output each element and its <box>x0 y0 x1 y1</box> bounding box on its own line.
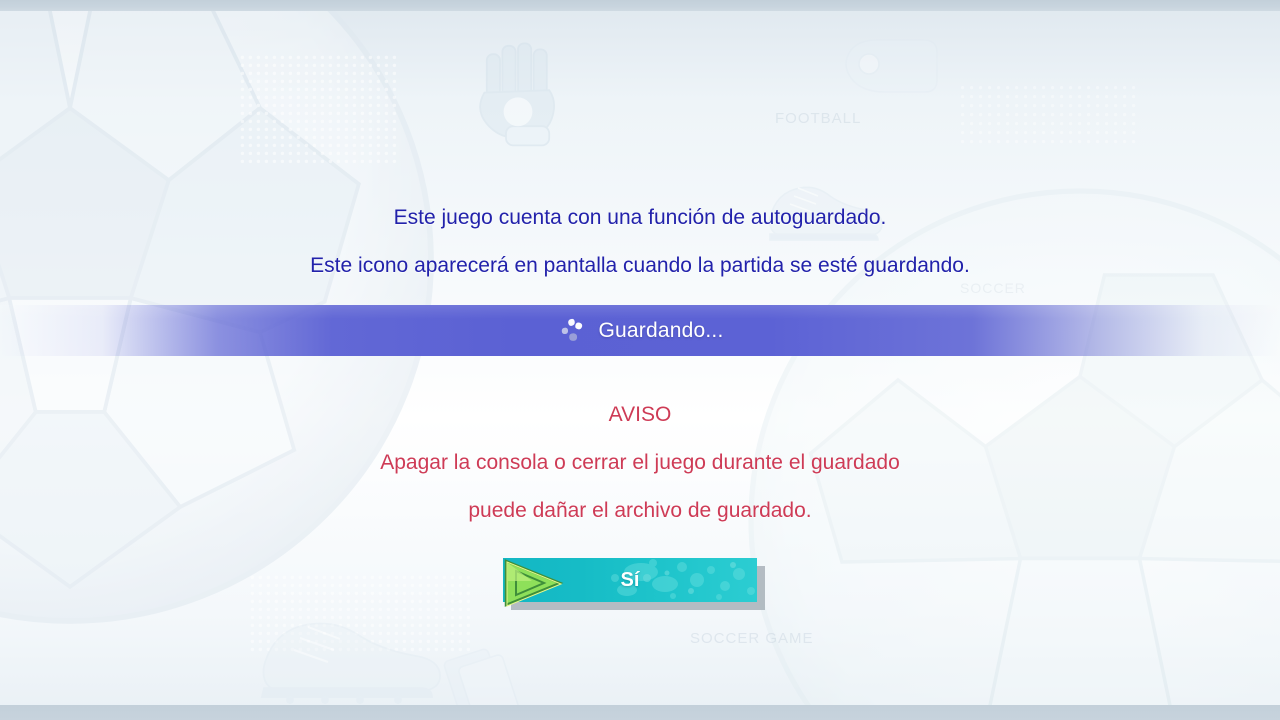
autosave-dialog: Este juego cuenta con una función de aut… <box>0 0 1280 720</box>
warning-line-2: puede dañar el archivo de guardado. <box>0 499 1280 523</box>
saving-banner-inner: Guardando... <box>557 316 724 346</box>
autosave-petals-icon <box>557 316 587 346</box>
autosave-info-line-2: Este icono aparecerá en pantalla cuando … <box>0 254 1280 278</box>
game-screen: FOOTBALL SOCCER GAME SOCCER Este juego c… <box>0 0 1280 720</box>
green-arrow-cursor-icon[interactable] <box>502 557 568 609</box>
confirm-yes-button[interactable]: Sí <box>503 558 765 610</box>
saving-banner: Guardando... <box>0 305 1280 356</box>
warning-title: AVISO <box>0 403 1280 427</box>
warning-line-1: Apagar la consola o cerrar el juego dura… <box>0 451 1280 475</box>
saving-label: Guardando... <box>599 319 724 343</box>
autosave-info-line-1: Este juego cuenta con una función de aut… <box>0 206 1280 230</box>
